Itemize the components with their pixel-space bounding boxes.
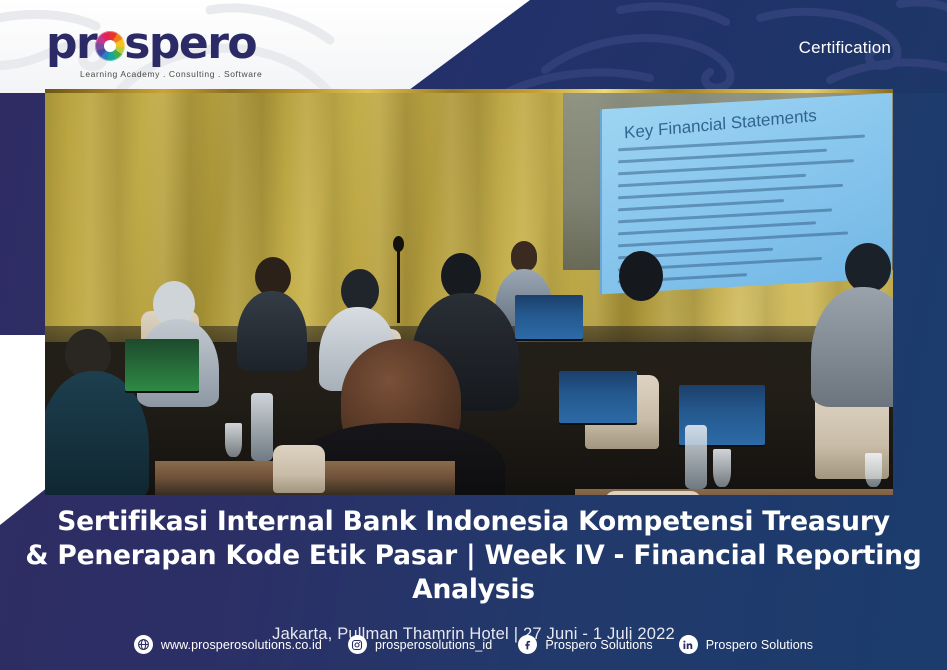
chair [605, 491, 701, 495]
logo-wordmark: prspero [46, 22, 286, 68]
participant-head [619, 251, 663, 301]
footer-label-linkedin: Prospero Solutions [706, 638, 813, 652]
drinking-glass [225, 423, 242, 457]
participant-head [845, 243, 891, 293]
logo-tagline: Learning Academy . Consulting . Software [46, 69, 286, 79]
microphone-head [393, 236, 404, 252]
presenter-head [511, 241, 537, 271]
title-line-1: Sertifikasi Internal Bank Indonesia Komp… [0, 505, 947, 539]
water-bottle [251, 393, 273, 461]
participant-body [237, 291, 307, 371]
poster-header: prspero Learning Academy . Consulting . … [0, 0, 947, 93]
footer-item-website[interactable]: www.prosperosolutions.co.id [134, 635, 322, 654]
drinking-glass [865, 453, 882, 487]
logo-word-post: spero [124, 18, 256, 69]
prospero-logo: prspero Learning Academy . Consulting . … [46, 22, 286, 78]
laptop [559, 371, 637, 423]
water-bottle [685, 425, 707, 489]
microphone-stand [397, 243, 400, 323]
footer-item-instagram[interactable]: prosperosolutions_id [348, 635, 492, 654]
certification-poster: prspero Learning Academy . Consulting . … [0, 0, 947, 670]
footer-item-linkedin[interactable]: Prospero Solutions [679, 635, 813, 654]
laptop [515, 295, 583, 339]
title-block: Sertifikasi Internal Bank Indonesia Komp… [0, 505, 947, 644]
color-wheel-icon [95, 31, 125, 61]
footer-social-bar: www.prosperosolutions.co.id prosperosolu… [0, 635, 947, 654]
projector-slide-title: Key Financial Statements [624, 106, 817, 143]
chair [273, 445, 325, 493]
category-label: Certification [799, 38, 891, 58]
facebook-icon [518, 635, 537, 654]
classroom-training-photo: Key Financial Statements [45, 93, 893, 495]
drinking-glass [713, 449, 731, 487]
footer-label-website: www.prosperosolutions.co.id [161, 638, 322, 652]
title-line-2: & Penerapan Kode Etik Pasar | Week IV - … [0, 539, 947, 607]
footer-label-facebook: Prospero Solutions [545, 638, 652, 652]
instagram-icon [348, 635, 367, 654]
linkedin-icon [679, 635, 698, 654]
footer-label-instagram: prosperosolutions_id [375, 638, 492, 652]
footer-item-facebook[interactable]: Prospero Solutions [518, 635, 652, 654]
globe-icon [134, 635, 153, 654]
logo-word-pre: pr [46, 18, 96, 69]
laptop [125, 339, 199, 391]
